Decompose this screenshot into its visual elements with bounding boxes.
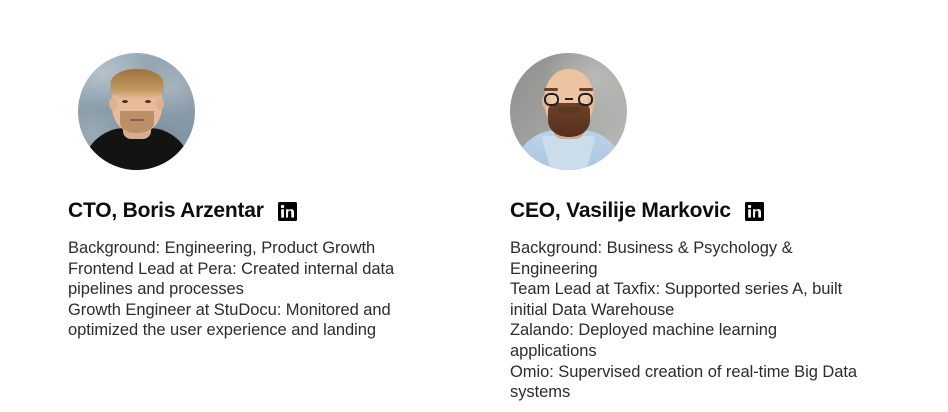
- linkedin-icon[interactable]: [278, 202, 297, 221]
- bio-line: Zalando: Deployed machine learning appli…: [510, 320, 862, 361]
- bio-line: Omio: Supervised creation of real-time B…: [510, 362, 862, 403]
- avatar-glasses-lens-left: [544, 93, 559, 106]
- avatar-eye-left: [122, 100, 128, 103]
- avatar-glasses-lens-right: [578, 93, 593, 106]
- avatar-glasses-bridge: [565, 98, 573, 100]
- team-member-card-cto: CTO, Boris Arzentar Background: Engineer…: [68, 53, 468, 170]
- avatar-eyebrow-left: [544, 88, 558, 91]
- member-bio: Background: Engineering, Product Growth …: [68, 238, 428, 341]
- avatar-hair: [110, 69, 163, 99]
- member-name: CTO, Boris Arzentar: [68, 199, 264, 223]
- avatar-ear-right: [156, 97, 164, 110]
- avatar-ear-left: [109, 97, 117, 110]
- avatar-mustache: [558, 107, 580, 113]
- avatar-beard: [120, 111, 154, 133]
- team-members-section: CTO, Boris Arzentar Background: Engineer…: [0, 0, 948, 412]
- bio-line: Background: Business & Psychology & Engi…: [510, 238, 862, 279]
- bio-line: Frontend Lead at Pera: Created internal …: [68, 259, 428, 300]
- avatar-eye-right: [145, 100, 151, 103]
- member-name-row: CTO, Boris Arzentar: [68, 199, 297, 223]
- bio-line: Growth Engineer at StuDocu: Monitored an…: [68, 300, 428, 341]
- bio-line: Background: Engineering, Product Growth: [68, 238, 428, 259]
- avatar-vasilije-markovic: [510, 53, 627, 170]
- member-bio: Background: Business & Psychology & Engi…: [510, 238, 862, 403]
- member-name: CEO, Vasilije Markovic: [510, 199, 731, 223]
- bio-line: Team Lead at Taxfix: Supported series A,…: [510, 279, 862, 320]
- member-name-row: CEO, Vasilije Markovic: [510, 199, 764, 223]
- avatar-boris-arzentar: [78, 53, 195, 170]
- team-member-card-ceo: CEO, Vasilije Markovic Background: Busin…: [510, 53, 910, 170]
- avatar-eyebrow-right: [579, 88, 593, 91]
- linkedin-icon[interactable]: [745, 202, 764, 221]
- avatar-mouth: [130, 119, 144, 121]
